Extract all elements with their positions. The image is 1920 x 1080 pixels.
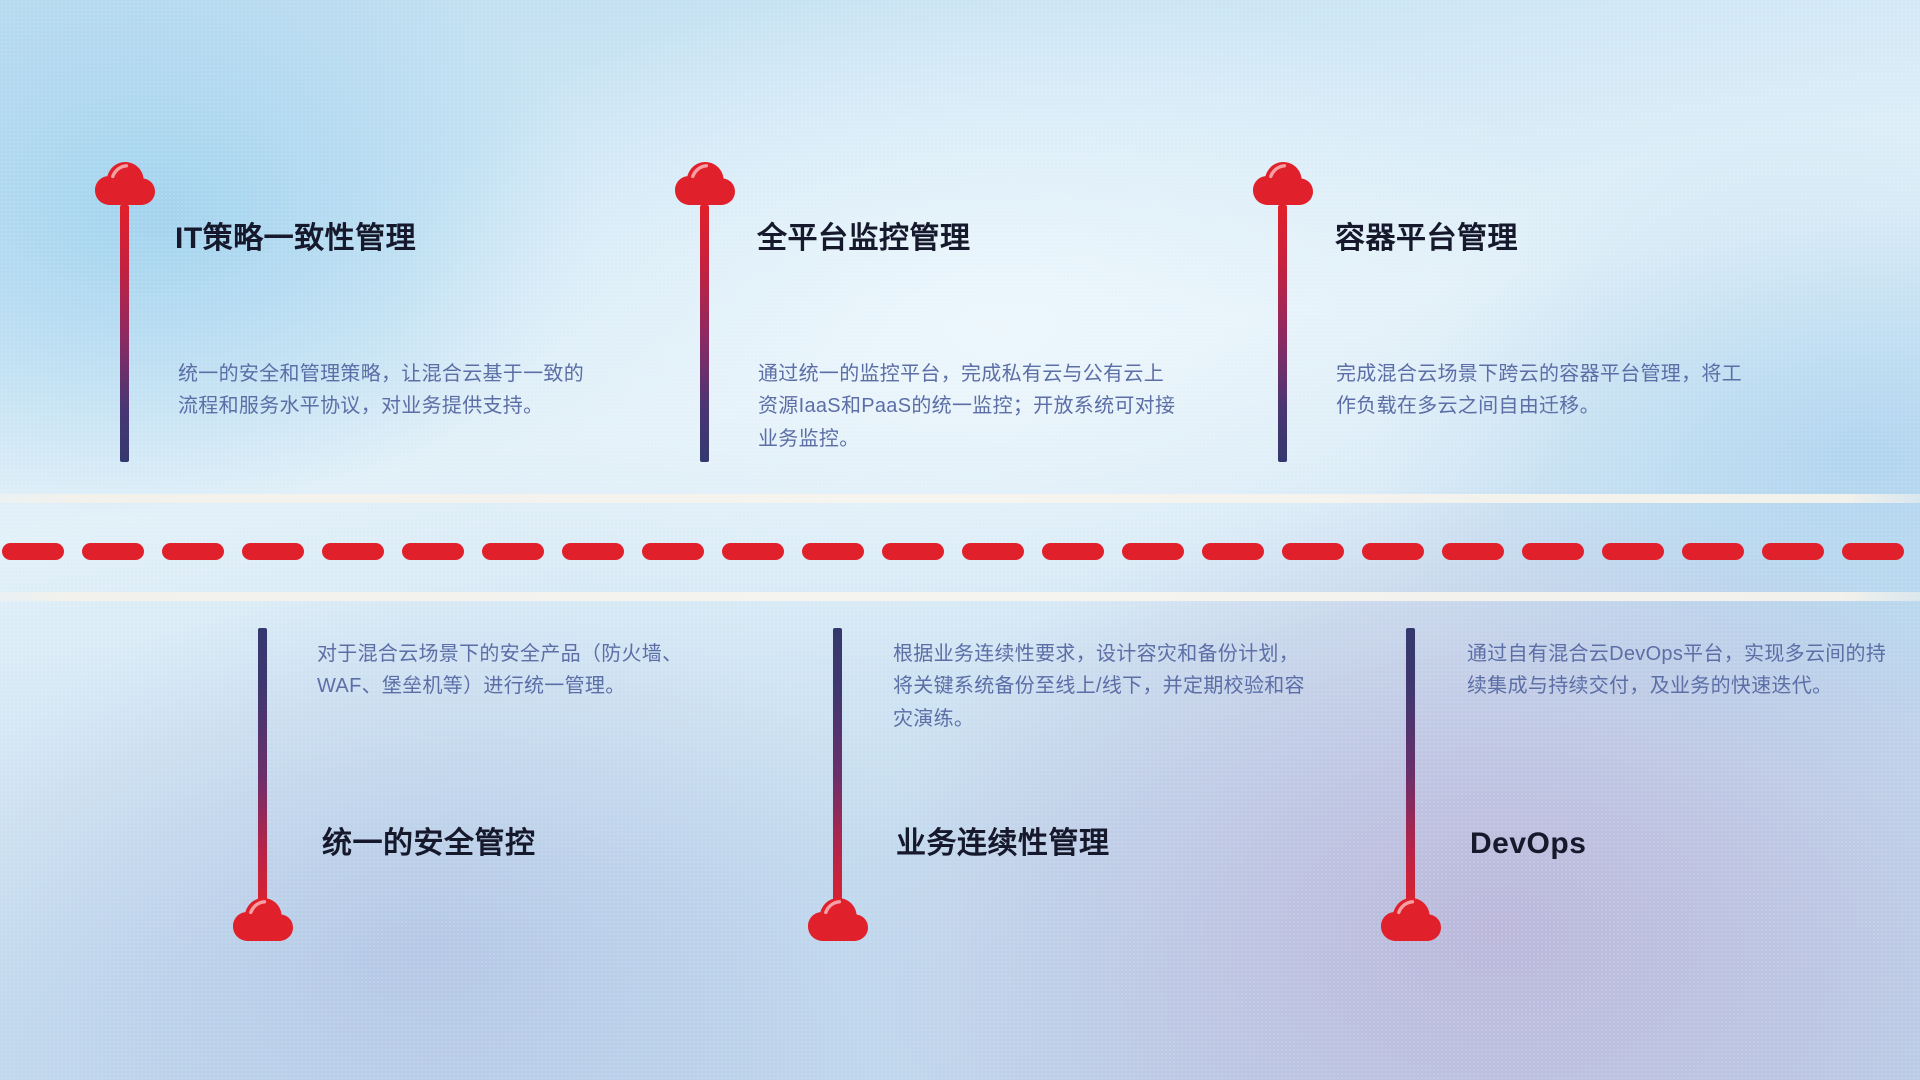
connector-stem <box>1406 628 1415 913</box>
road-dash <box>1042 543 1104 560</box>
cloud-icon <box>231 895 295 943</box>
road-dash <box>962 543 1024 560</box>
road-edge-upper <box>0 494 1920 503</box>
road-dash <box>722 543 784 560</box>
column-title: 全平台监控管理 <box>757 221 971 257</box>
column-title: DevOps <box>1470 826 1586 862</box>
road-center-dashes <box>0 543 1920 560</box>
road-dash <box>1522 543 1584 560</box>
column-title: IT策略一致性管理 <box>175 221 416 257</box>
column-title: 业务连续性管理 <box>896 826 1110 862</box>
road-dash <box>1362 543 1424 560</box>
road-edge-lower <box>0 592 1920 601</box>
connector-stem <box>700 205 709 462</box>
road-dash <box>882 543 944 560</box>
road-dash <box>642 543 704 560</box>
road-dash <box>402 543 464 560</box>
column-body-text: 对于混合云场景下的安全产品（防火墙、WAF、堡垒机等）进行统一管理。 <box>317 638 739 703</box>
road-dash <box>242 543 304 560</box>
road-dash <box>482 543 544 560</box>
road-dash <box>2 543 64 560</box>
road-dash <box>82 543 144 560</box>
road-dash <box>1762 543 1824 560</box>
column-body-text: 通过自有混合云DevOps平台，实现多云间的持续集成与持续交付，及业务的快速迭代… <box>1467 638 1889 703</box>
infographic-canvas: IT策略一致性管理 统一的安全和管理策略，让混合云基于一致的流程和服务水平协议，… <box>0 0 1920 1080</box>
road-dash <box>1602 543 1664 560</box>
road-dash <box>802 543 864 560</box>
column-body-text: 完成混合云场景下跨云的容器平台管理，将工作负载在多云之间自由迁移。 <box>1336 358 1758 423</box>
road-dash <box>1682 543 1744 560</box>
road-dash <box>1122 543 1184 560</box>
road-dash <box>1442 543 1504 560</box>
road-dash <box>1202 543 1264 560</box>
cloud-icon <box>673 159 737 207</box>
column-body-text: 根据业务连续性要求，设计容灾和备份计划，将关键系统备份至线上/线下，并定期校验和… <box>893 638 1315 735</box>
cloud-icon <box>93 159 157 207</box>
connector-stem <box>833 628 842 913</box>
connector-stem <box>120 205 129 462</box>
road-dash <box>1842 543 1904 560</box>
road-dash <box>562 543 624 560</box>
connector-stem <box>258 628 267 913</box>
cloud-icon <box>806 895 870 943</box>
column-body-text: 通过统一的监控平台，完成私有云与公有云上资源IaaS和PaaS的统一监控；开放系… <box>758 358 1180 455</box>
road-dash <box>322 543 384 560</box>
column-title: 统一的安全管控 <box>322 826 536 862</box>
road-dash <box>1282 543 1344 560</box>
road-dash <box>162 543 224 560</box>
column-title: 容器平台管理 <box>1335 221 1518 257</box>
cloud-icon <box>1379 895 1443 943</box>
cloud-icon <box>1251 159 1315 207</box>
column-body-text: 统一的安全和管理策略，让混合云基于一致的流程和服务水平协议，对业务提供支持。 <box>178 358 600 423</box>
connector-stem <box>1278 205 1287 462</box>
